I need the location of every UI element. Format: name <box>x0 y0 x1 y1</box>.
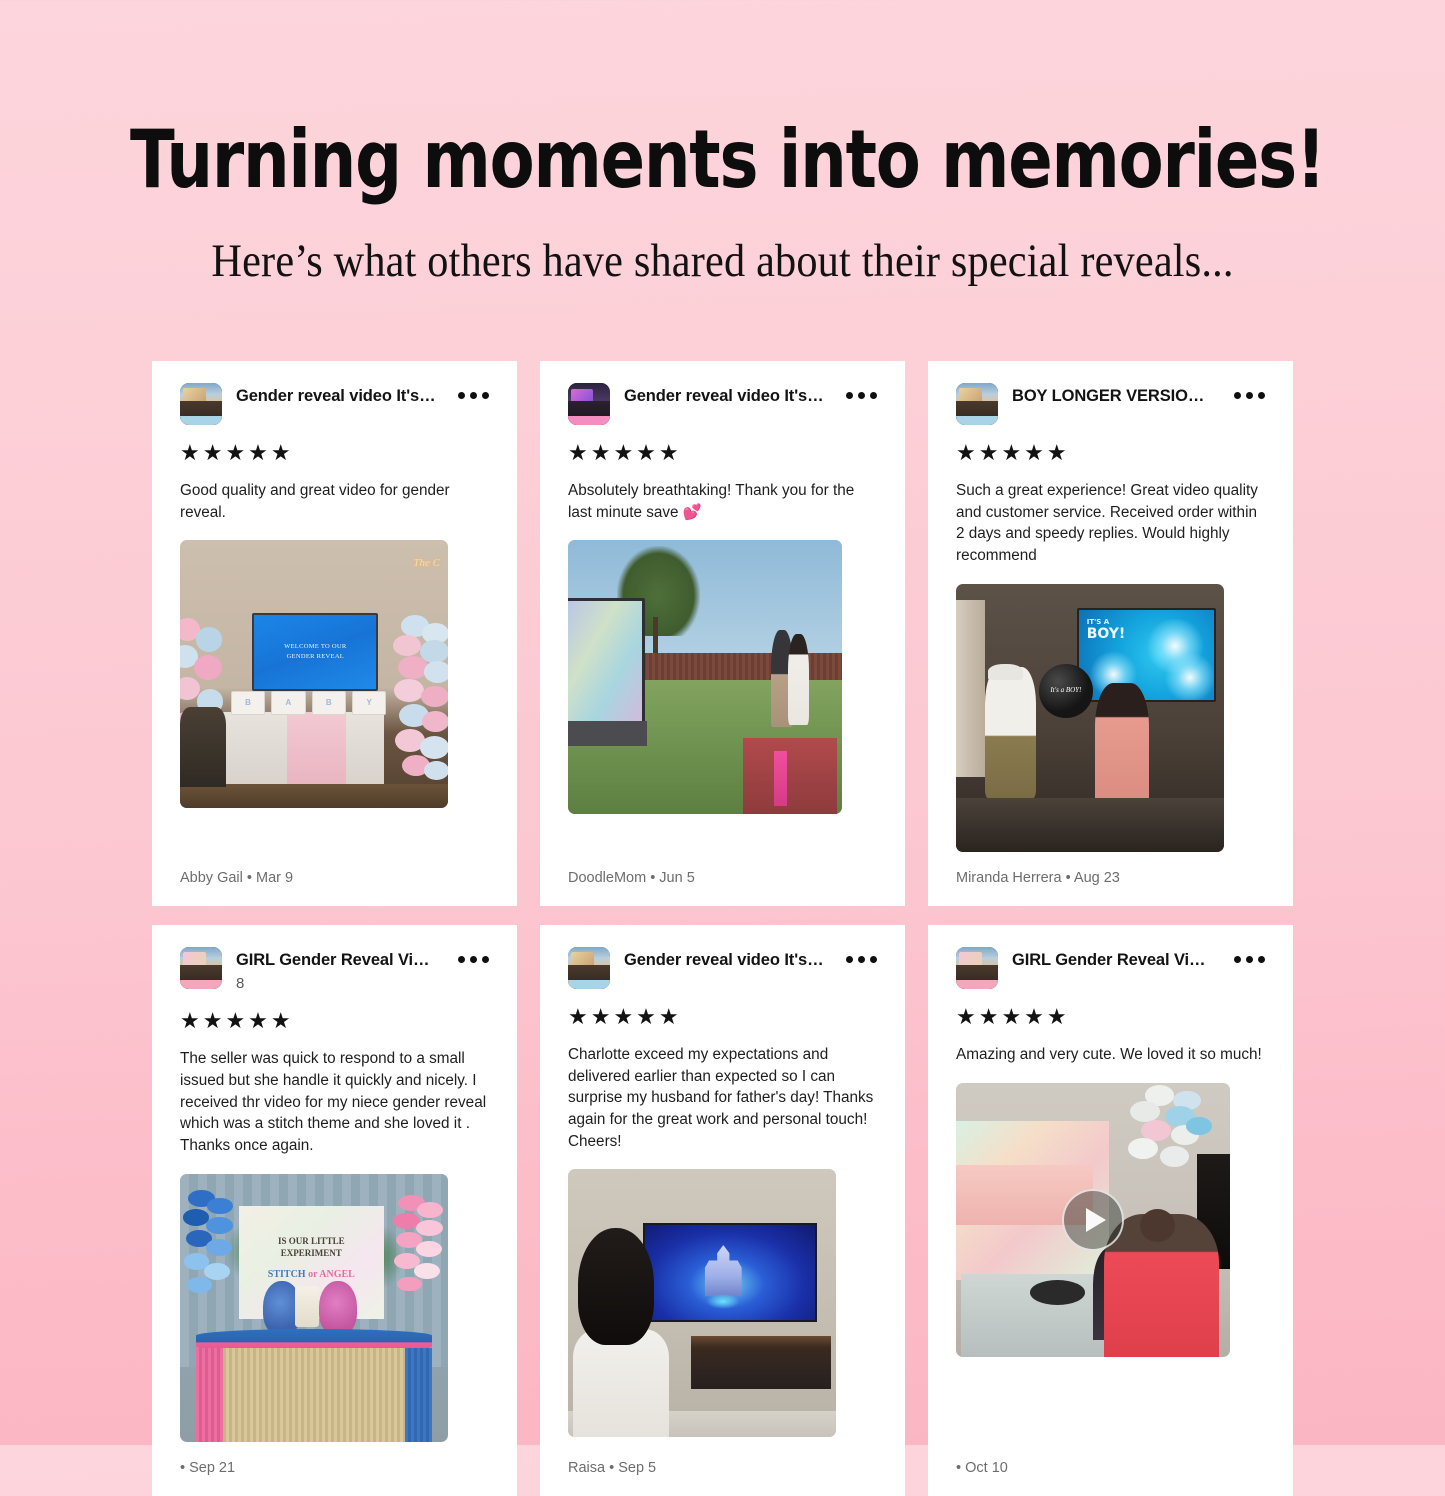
page-title: Turning moments into memories! <box>130 118 1315 202</box>
review-photo[interactable]: IT'S ABOY! It's a BOY! <box>956 584 1224 852</box>
more-options-icon[interactable] <box>840 383 877 399</box>
baby-blocks: B A B Y <box>231 691 386 715</box>
review-meta: • Sep 21 <box>180 1442 489 1476</box>
review-header: BOY LONGER VERSION Gender ... <box>956 383 1265 425</box>
more-options-icon[interactable] <box>1228 947 1265 963</box>
tv-screen: IT'S ABOY! <box>1077 608 1216 702</box>
review-card[interactable]: GIRL Gender Reveal Video digital ... 8 ★… <box>152 925 517 1496</box>
star-rating: ★★★★★ <box>956 442 1265 464</box>
product-title[interactable]: BOY LONGER VERSION Gender ... <box>1012 386 1214 407</box>
review-body: Absolutely breathtaking! Thank you for t… <box>568 482 854 521</box>
product-title-sub: 8 <box>236 975 438 993</box>
review-meta: • Oct 10 <box>956 1442 1265 1476</box>
heart-emoji: 💕 <box>683 504 702 521</box>
product-thumbnail[interactable] <box>180 383 222 425</box>
product-title[interactable]: GIRL Gender Reveal Video digital ... <box>1012 950 1214 971</box>
review-text: Absolutely breathtaking! Thank you for t… <box>568 480 877 523</box>
product-thumbnail[interactable] <box>180 947 222 989</box>
product-title[interactable]: Gender reveal video It's a Girl! Vide... <box>624 386 826 407</box>
door <box>956 600 985 777</box>
grass-skirt <box>196 1348 432 1442</box>
page-header: Turning moments into memories! Here’s wh… <box>0 0 1445 288</box>
castle-glow <box>706 1294 740 1309</box>
review-card[interactable]: Gender reveal video It's a Boy! Vide... … <box>152 361 517 906</box>
review-photo[interactable] <box>568 540 842 814</box>
neon-sign-text: The C <box>413 557 440 569</box>
product-title[interactable]: GIRL Gender Reveal Video digital ... <box>236 950 438 971</box>
person-right <box>1095 683 1149 812</box>
review-text: The seller was quick to respond to a sma… <box>180 1048 489 1157</box>
counter <box>956 798 1224 852</box>
review-header: Gender reveal video It's a Boy! Vide... <box>180 383 489 425</box>
star-rating: ★★★★★ <box>956 1006 1265 1028</box>
balloon-column-left <box>183 1190 237 1319</box>
product-thumbnail[interactable] <box>956 947 998 989</box>
product-title[interactable]: Gender reveal video It's a Boy! Vide... <box>236 386 438 407</box>
stitch-character-pink <box>319 1281 357 1335</box>
review-header: GIRL Gender Reveal Video digital ... 8 <box>180 947 489 993</box>
review-card[interactable]: BOY LONGER VERSION Gender ... ★★★★★ Such… <box>928 361 1293 906</box>
review-meta: Abby Gail • Mar 9 <box>180 852 489 886</box>
review-video-thumbnail[interactable] <box>956 1083 1230 1357</box>
star-rating: ★★★★★ <box>568 442 877 464</box>
page-subtitle: Here’s what others have shared about the… <box>72 234 1373 288</box>
cap <box>988 664 1023 680</box>
grass-skirt-pink <box>196 1348 223 1442</box>
product-thumbnail[interactable] <box>568 947 610 989</box>
castle <box>698 1245 749 1296</box>
fence <box>634 653 842 680</box>
balloon-column-right <box>386 615 448 792</box>
guest-silhouette <box>180 707 226 787</box>
review-photo[interactable] <box>568 1169 836 1437</box>
star-rating: ★★★★★ <box>180 1010 489 1032</box>
more-options-icon[interactable] <box>452 383 489 399</box>
hair-bun <box>1140 1209 1176 1242</box>
review-text: Such a great experience! Great video qua… <box>956 480 1265 567</box>
tv-screen: WELCOME TO OURGENDER REVEAL <box>252 613 378 691</box>
review-meta: Raisa • Sep 5 <box>568 1442 877 1476</box>
more-options-icon[interactable] <box>1228 383 1265 399</box>
product-thumbnail[interactable] <box>568 383 610 425</box>
reveal-balloon: It's a BOY! <box>1039 664 1093 718</box>
lawn-chair <box>743 738 836 815</box>
person-left <box>985 667 1036 798</box>
review-header: Gender reveal video It's a Boy! Vide... <box>568 947 877 989</box>
review-text: Charlotte exceed my expectations and del… <box>568 1044 877 1153</box>
review-card[interactable]: GIRL Gender Reveal Video digital ... ★★★… <box>928 925 1293 1496</box>
table-drape <box>287 712 346 790</box>
star-rating: ★★★★★ <box>180 442 489 464</box>
review-card[interactable]: Gender reveal video It's a Girl! Vide...… <box>540 361 905 906</box>
more-options-icon[interactable] <box>840 947 877 963</box>
review-header: Gender reveal video It's a Girl! Vide... <box>568 383 877 425</box>
cake <box>295 1286 319 1326</box>
projector-screen-base <box>568 721 647 746</box>
couple <box>771 628 809 727</box>
confetti-cannon <box>774 751 788 806</box>
play-icon[interactable] <box>1062 1189 1124 1251</box>
tv-stand <box>691 1336 830 1390</box>
review-text: Good quality and great video for gender … <box>180 480 489 523</box>
grass-skirt-blue <box>405 1348 432 1442</box>
product-title[interactable]: Gender reveal video It's a Boy! Vide... <box>624 950 826 971</box>
more-options-icon[interactable] <box>452 947 489 963</box>
review-meta: DoodleMom • Jun 5 <box>568 852 877 886</box>
balloon-column-right <box>392 1195 446 1318</box>
review-header: GIRL Gender Reveal Video digital ... <box>956 947 1265 989</box>
tray <box>1030 1280 1085 1305</box>
review-photo[interactable]: The C WELCOME TO OURGENDER REVEAL <box>180 540 448 808</box>
review-text: Amazing and very cute. We loved it so mu… <box>956 1044 1265 1066</box>
reviews-grid: Gender reveal video It's a Boy! Vide... … <box>152 361 1293 1496</box>
balloon-cluster <box>1120 1085 1213 1217</box>
product-thumbnail[interactable] <box>956 383 998 425</box>
projector-screen <box>568 598 645 730</box>
review-card[interactable]: Gender reveal video It's a Boy! Vide... … <box>540 925 905 1496</box>
star-rating: ★★★★★ <box>568 1006 877 1028</box>
review-photo[interactable]: IS OUR LITTLEEXPERIMENT STITCH or ANGEL <box>180 1174 448 1442</box>
review-meta: Miranda Herrera • Aug 23 <box>956 852 1265 886</box>
floor <box>180 784 448 808</box>
child <box>573 1228 686 1437</box>
